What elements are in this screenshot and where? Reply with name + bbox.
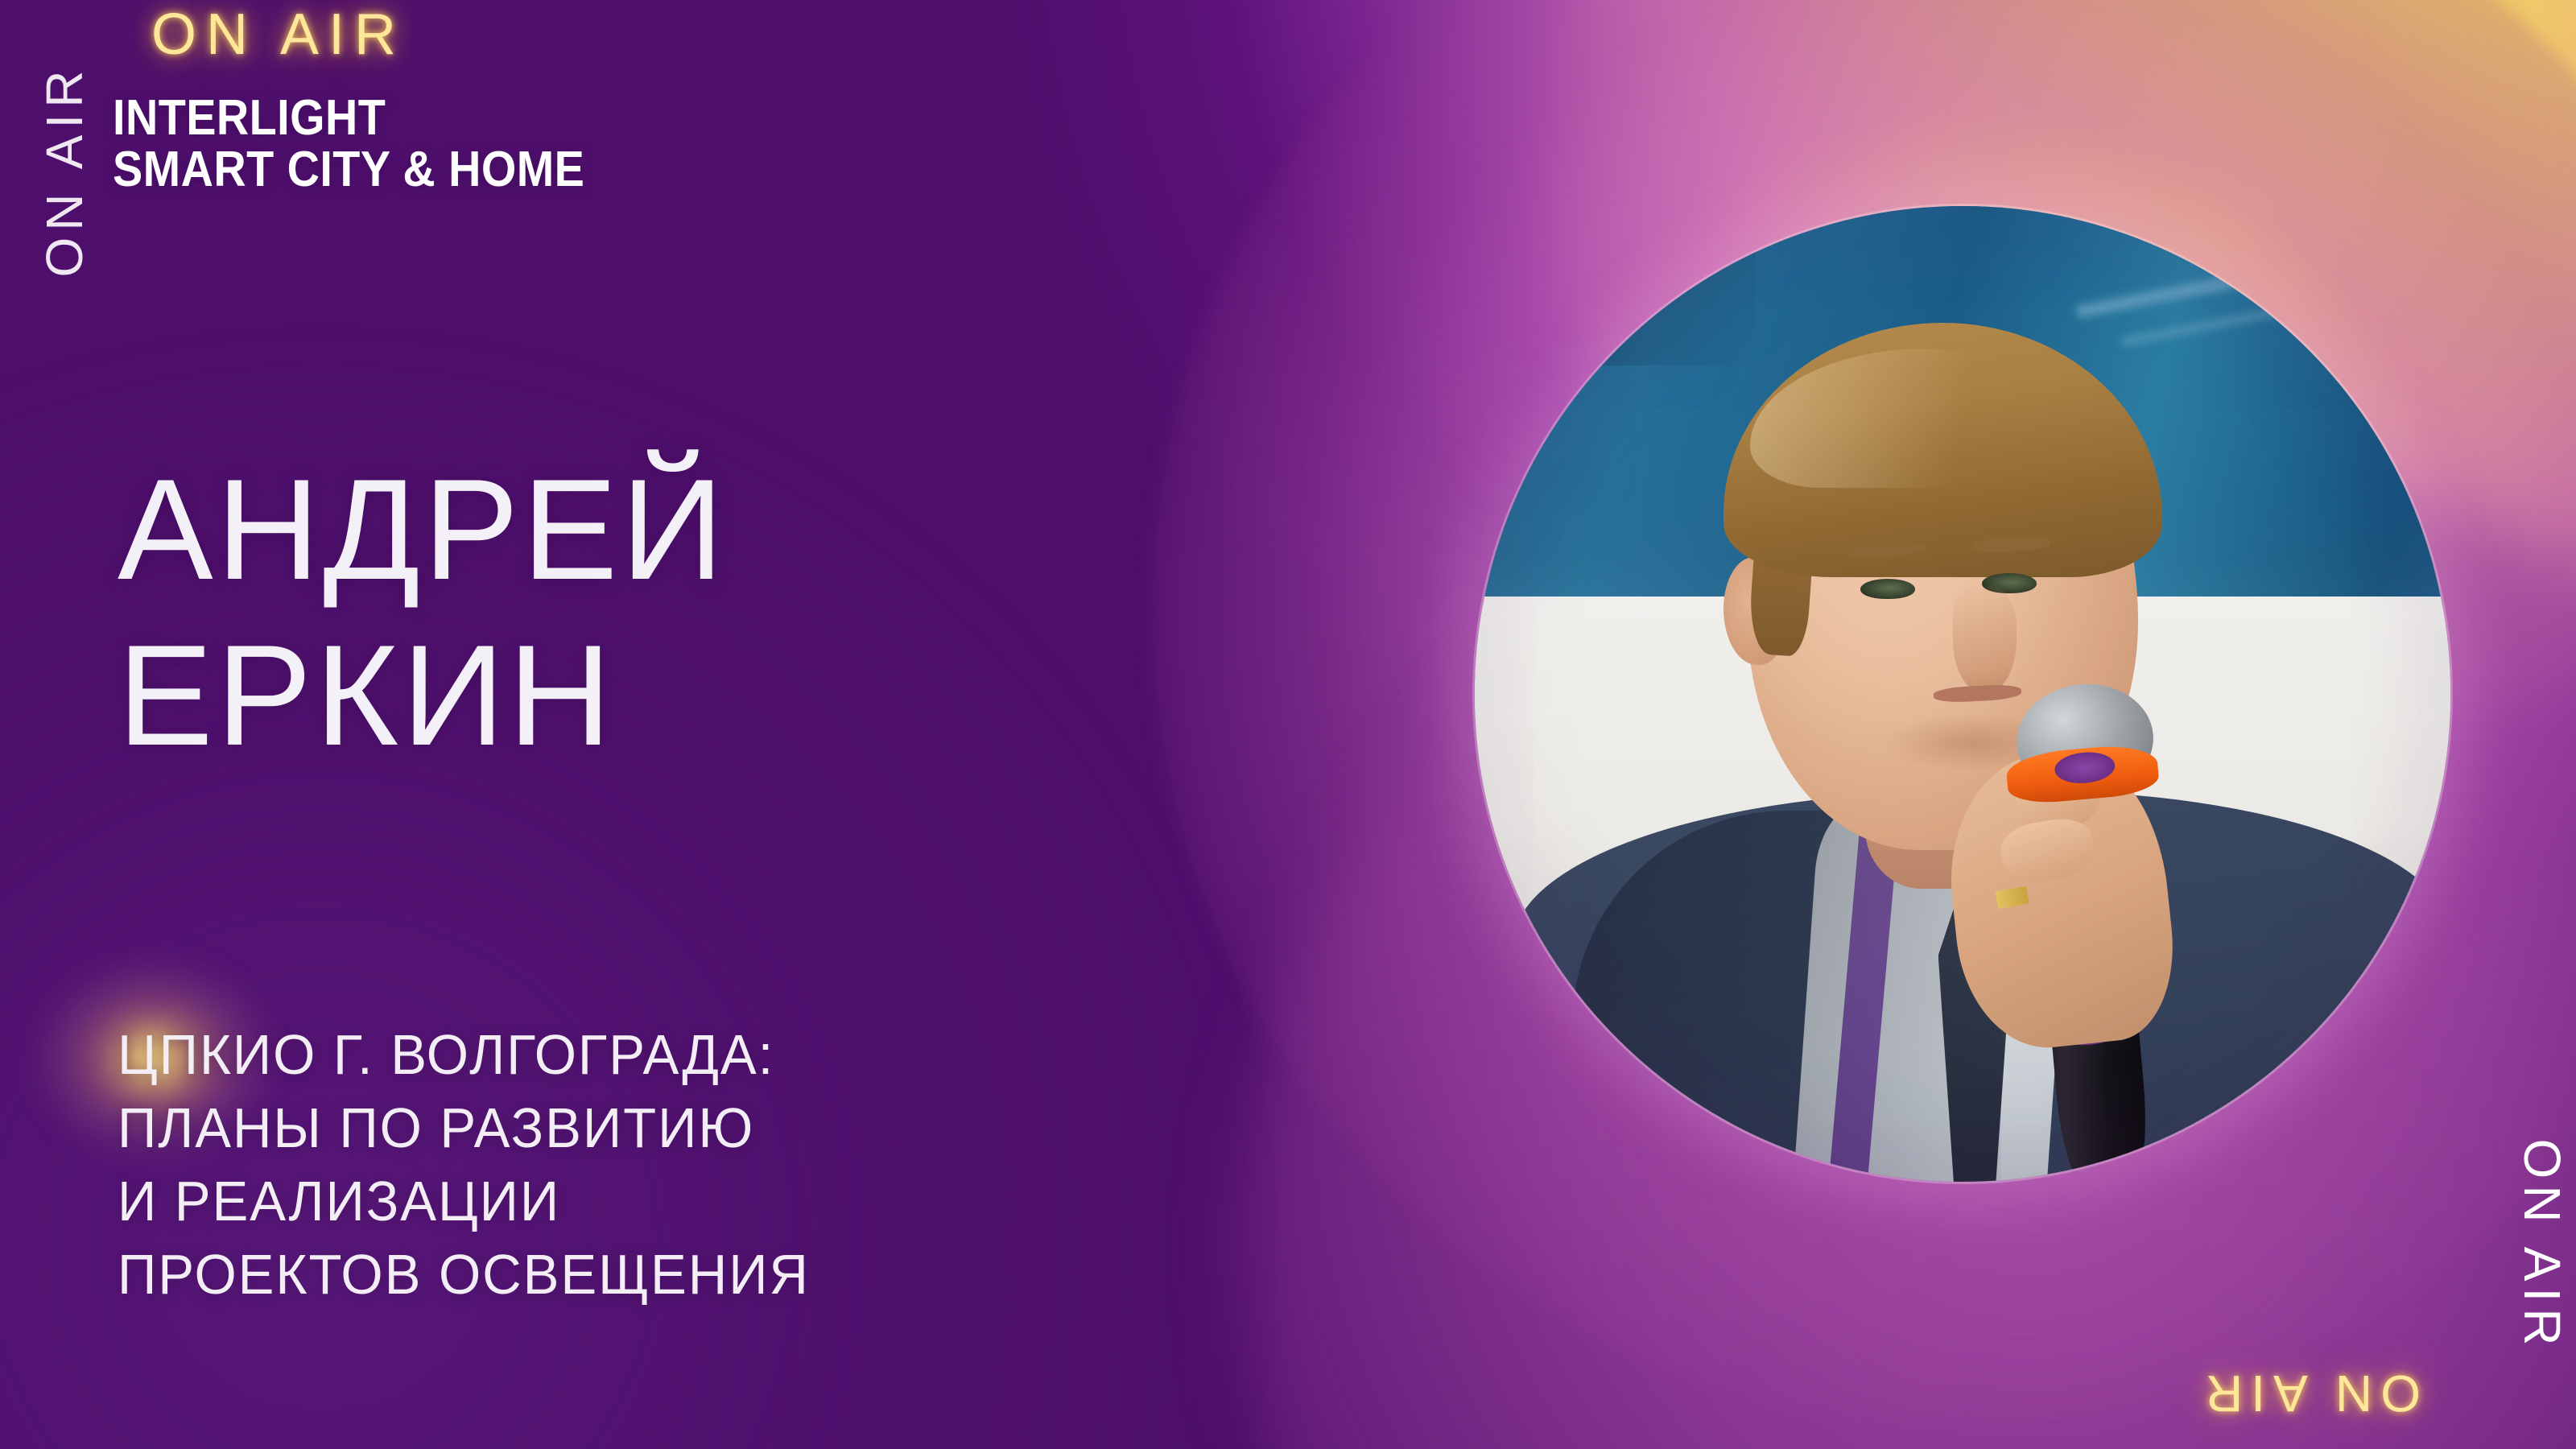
on-air-badge-bottom-flipped: ON AIR [2198,1364,2421,1423]
broadcast-slide: ON AIR INTERLIGHT SMART CITY & HOME АНДР… [0,0,2576,1449]
talk-title-line-4: ПРОЕКТОВ ОСВЕЩЕНИЯ [118,1238,810,1311]
on-air-badge-top: ON AIR [151,2,406,68]
brand-line-interlight: INTERLIGHT [113,93,584,144]
on-air-badge-left: ON AIR [35,26,94,316]
brand-line-smart-city-home: SMART CITY & HOME [113,144,584,196]
talk-title-line-3: И РЕАЛИЗАЦИИ [118,1165,810,1238]
event-brand: INTERLIGHT SMART CITY & HOME [113,93,584,196]
talk-title-line-1: ЦПКИО Г. ВОЛГОГРАДА: [118,1018,810,1092]
person-figure [1475,206,2450,1182]
on-air-badge-right: ON AIR [2512,1092,2572,1398]
talk-title: ЦПКИО Г. ВОЛГОГРАДА: ПЛАНЫ ПО РАЗВИТИЮ И… [118,1018,810,1311]
talk-title-line-2: ПЛАНЫ ПО РАЗВИТИЮ [118,1092,810,1165]
eye-left [1860,579,1915,599]
speaker-first-name: АНДРЕЙ [118,447,727,613]
hair [1724,323,2162,576]
portrait-image [1475,206,2450,1182]
speaker-name: АНДРЕЙ ЕРКИН [118,447,727,779]
speaker-last-name: ЕРКИН [118,613,727,778]
nose [1953,587,2017,694]
speaker-portrait [1475,206,2450,1182]
